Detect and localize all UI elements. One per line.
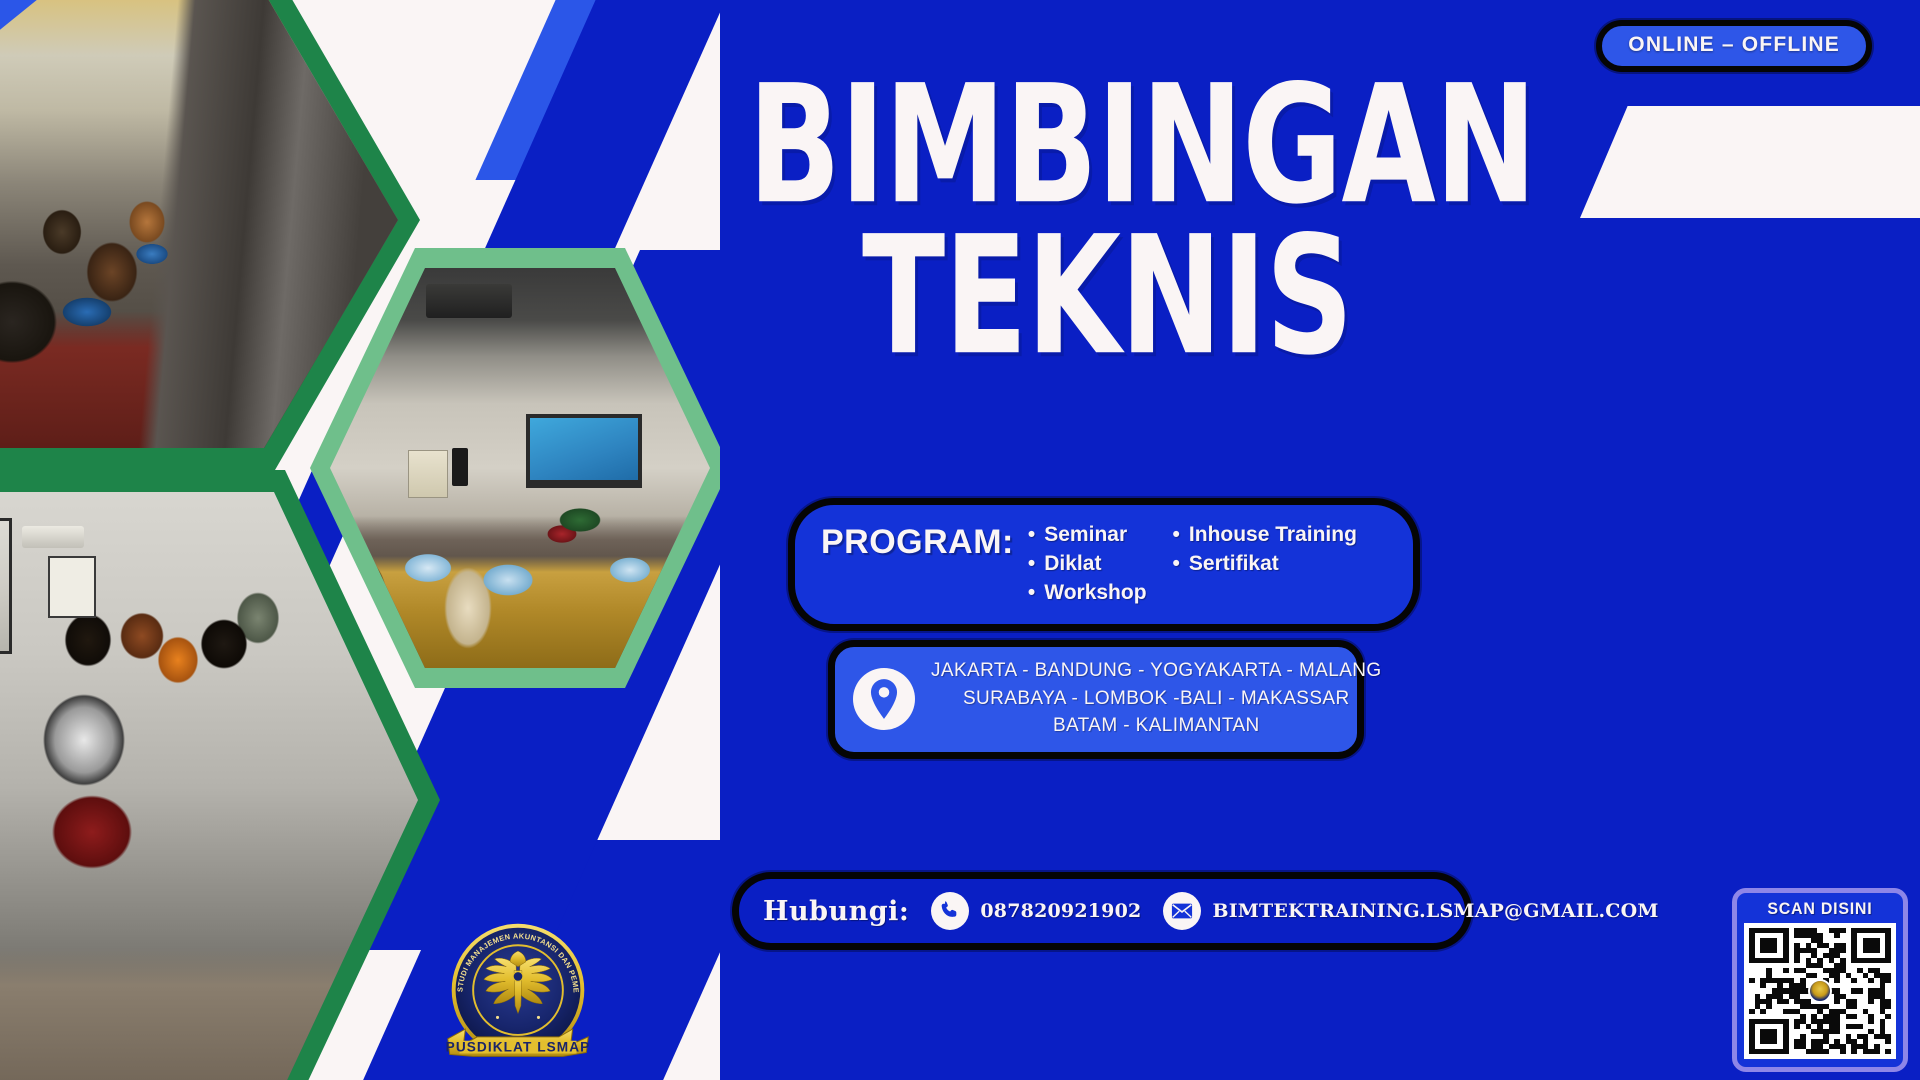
page-title: BIMBINGAN TEKNIS	[700, 78, 1920, 331]
flipchart-decor-2	[48, 556, 96, 618]
program-column-1: Seminar Diklat Workshop	[1028, 521, 1147, 608]
headline-line-1: BIMBINGAN	[700, 78, 1920, 214]
qr-scan-panel[interactable]: SCAN DISINI	[1732, 888, 1908, 1072]
logo-ribbon-text: PUSDIKLAT LSMAP	[446, 1040, 591, 1055]
qr-title: SCAN DISINI	[1767, 899, 1872, 919]
contact-box: Hubungi: 087820921902 BIMTEKT	[732, 872, 1472, 950]
online-offline-label: ONLINE – OFFLINE	[1628, 33, 1840, 57]
program-box: PROGRAM: Seminar Diklat Workshop Inhouse…	[788, 498, 1420, 631]
photo-collage-panel	[0, 0, 720, 1080]
program-item: Diklat	[1028, 550, 1147, 579]
phone-number: 087820921902	[980, 900, 1141, 922]
content-panel: ONLINE – OFFLINE BIMBINGAN TEKNIS PROGRA…	[700, 0, 1920, 1080]
locations-box: JAKARTA - BANDUNG - YOGYAKARTA - MALANG …	[828, 640, 1364, 759]
program-item: Seminar	[1028, 521, 1147, 550]
qr-code[interactable]	[1744, 923, 1896, 1059]
photo-presenter-audience	[0, 492, 418, 1080]
pusdiklat-lsmap-logo: LEMBAGA STUDI MANAJEMEN AKUNTANSI DAN PE…	[440, 916, 596, 1072]
contact-phone[interactable]: 087820921902	[931, 892, 1141, 930]
headline-line-2: TEKNIS	[700, 229, 1920, 365]
projector-slide-decor	[530, 418, 638, 480]
contact-email[interactable]: BIMTEKTRAINING.LSMAP@GMAIL.COM	[1163, 892, 1658, 930]
email-address: BIMTEKTRAINING.LSMAP@GMAIL.COM	[1212, 900, 1658, 922]
qr-center-logo-icon	[1808, 979, 1832, 1003]
program-label: PROGRAM:	[821, 519, 1014, 562]
ac-unit-decor-2	[22, 526, 84, 548]
location-line: SURABAYA - LOMBOK -BALI - MAKASSAR	[931, 685, 1382, 713]
online-offline-badge[interactable]: ONLINE – OFFLINE	[1596, 20, 1872, 72]
program-item: Sertifikat	[1173, 550, 1357, 579]
program-item: Inhouse Training	[1173, 521, 1357, 550]
photo-hex-bottom-left	[0, 470, 440, 1080]
location-line: BATAM - KALIMANTAN	[931, 712, 1382, 740]
flyer-canvas: ONLINE – OFFLINE BIMBINGAN TEKNIS PROGRA…	[0, 0, 1920, 1080]
speaker-decor	[452, 448, 468, 486]
locations-list: JAKARTA - BANDUNG - YOGYAKARTA - MALANG …	[931, 657, 1382, 740]
ac-unit-decor	[426, 284, 512, 318]
program-column-2: Inhouse Training Sertifikat	[1173, 521, 1357, 608]
program-columns: Seminar Diklat Workshop Inhouse Training…	[1028, 519, 1357, 608]
map-pin-icon	[853, 668, 915, 730]
program-item: Workshop	[1028, 579, 1147, 608]
location-line: JAKARTA - BANDUNG - YOGYAKARTA - MALANG	[931, 657, 1382, 685]
contact-label: Hubungi:	[763, 896, 909, 927]
envelope-icon	[1163, 892, 1201, 930]
projector-screen-decor	[0, 518, 12, 654]
phone-icon	[931, 892, 969, 930]
